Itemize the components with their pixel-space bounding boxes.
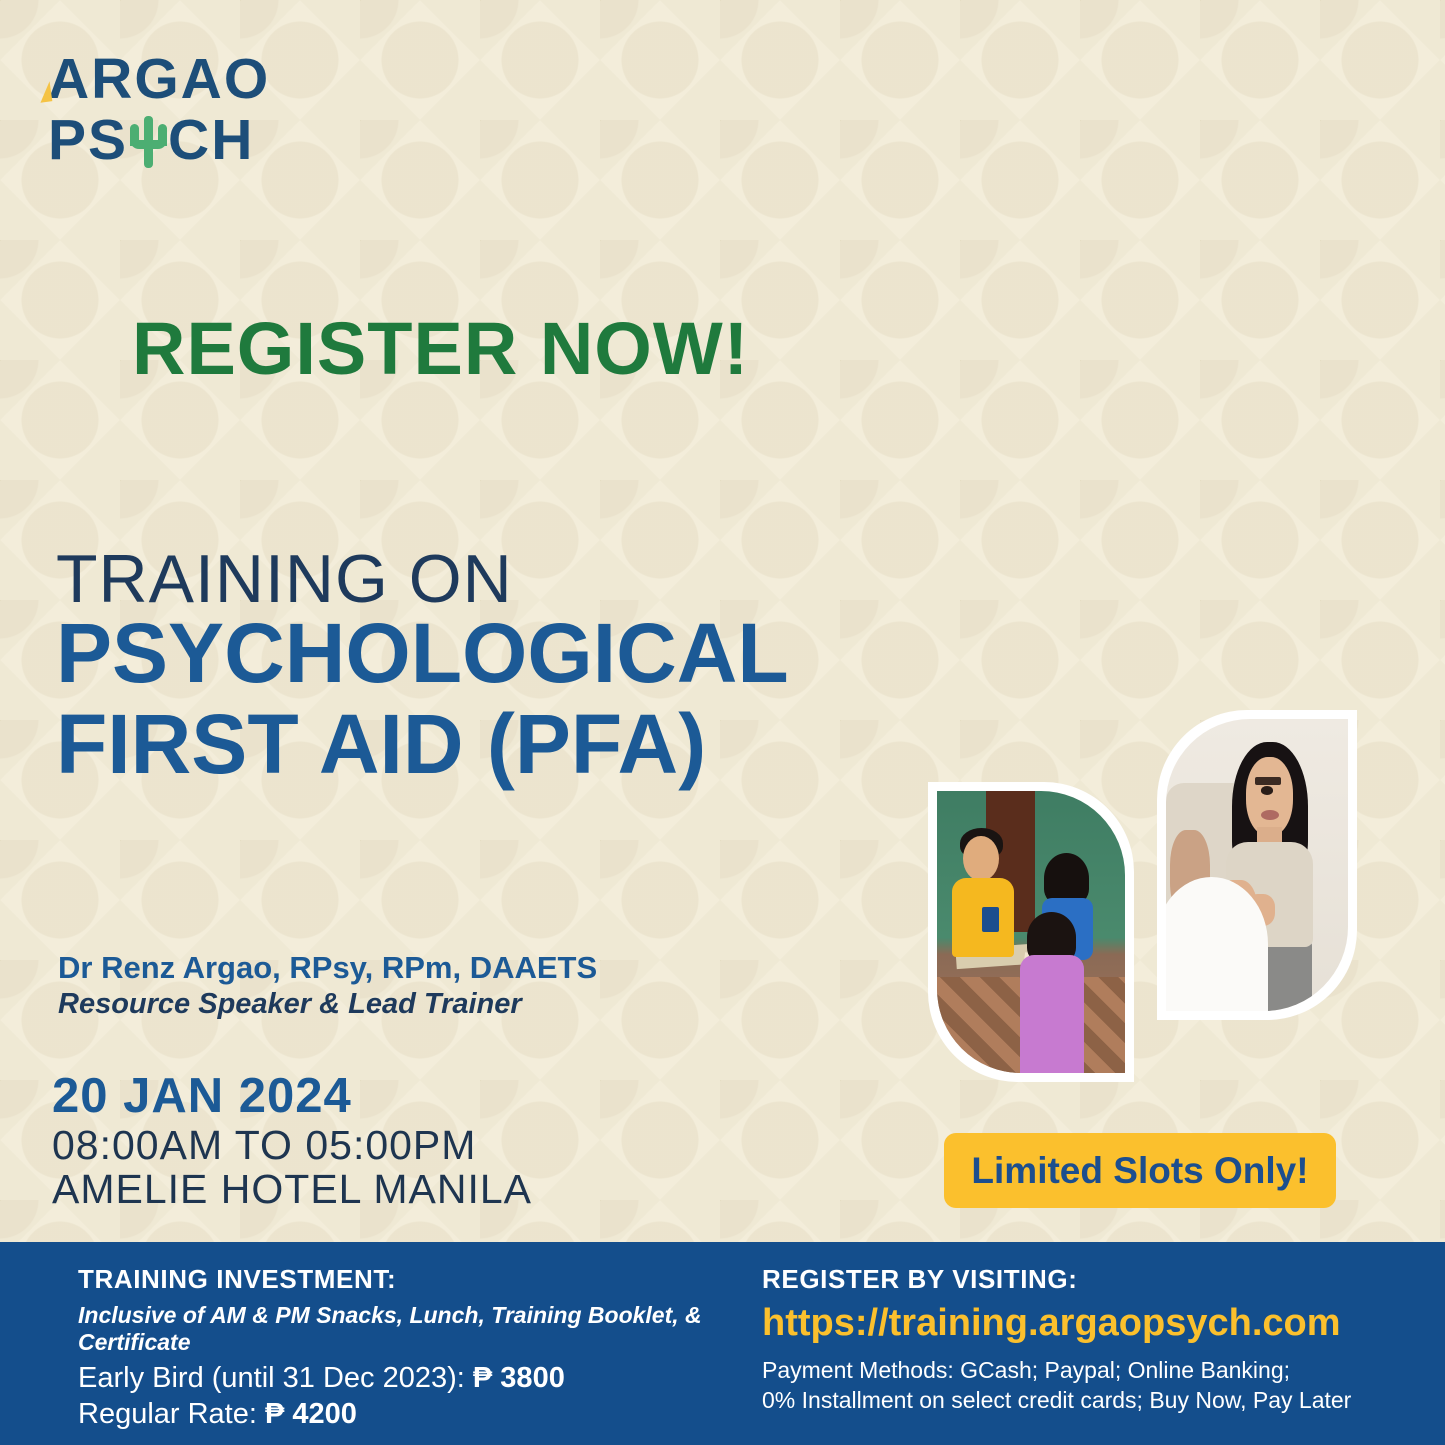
footer-register-block: REGISTER BY VISITING: https://training.a… — [762, 1264, 1402, 1416]
logo-psych-suffix: CH — [168, 108, 254, 172]
logo-argao-label: ARGAO — [48, 47, 270, 111]
poster-canvas: ARGAO PSCH PFA ACTION PRINCIPLES Look Li… — [0, 0, 1445, 1445]
regular-rate-row: Regular Rate: ₱ 4200 — [78, 1398, 778, 1431]
counseling-session-photo — [928, 782, 1134, 1082]
registration-url-link[interactable]: https://training.argaopsych.com — [762, 1302, 1402, 1345]
principle-look: Look — [960, 258, 1342, 398]
interview-session-photo — [1157, 710, 1357, 1020]
triangle-accent-icon — [38, 81, 53, 102]
panel-kicker-line1: PFA ACTION — [922, 104, 1332, 152]
early-bird-label: Early Bird (until 31 Dec 2023): — [78, 1362, 473, 1394]
page-title: PSYCHOLOGICAL FIRST AID (PFA) — [56, 608, 789, 789]
panel-kicker-line2: PRINCIPLES — [922, 152, 1332, 200]
panel-principles-list: Look Listen Link — [960, 258, 1342, 679]
event-venue: AMELIE HOTEL MANILA — [52, 1166, 532, 1213]
limited-slots-badge: Limited Slots Only! — [944, 1133, 1336, 1208]
regular-rate-price: ₱ 4200 — [265, 1398, 357, 1430]
principle-link: Link — [960, 539, 1342, 679]
register-heading: REGISTER BY VISITING: — [762, 1264, 1402, 1295]
title-line-2: FIRST AID (PFA) — [56, 699, 789, 790]
panel-kicker: PFA ACTION PRINCIPLES — [922, 104, 1332, 201]
brand-logo[interactable]: ARGAO PSCH — [48, 52, 270, 168]
investment-heading: TRAINING INVESTMENT: — [78, 1264, 778, 1295]
speaker-name: Dr Renz Argao, RPsy, RPm, DAAETS — [58, 950, 597, 986]
payment-methods: Payment Methods: GCash; Paypal; Online B… — [762, 1355, 1402, 1416]
early-bird-row: Early Bird (until 31 Dec 2023): ₱ 3800 — [78, 1362, 778, 1395]
logo-psych-prefix: PS — [48, 108, 128, 172]
title-line-1: PSYCHOLOGICAL — [56, 608, 789, 699]
principle-listen: Listen — [960, 398, 1342, 538]
speaker-role: Resource Speaker & Lead Trainer — [58, 988, 522, 1021]
investment-inclusive-note: Inclusive of AM & PM Snacks, Lunch, Trai… — [78, 1302, 778, 1356]
payment-methods-line1: Payment Methods: GCash; Paypal; Online B… — [762, 1355, 1402, 1385]
logo-text-argao: ARGAO — [48, 52, 270, 107]
register-now-headline: REGISTER NOW! — [132, 306, 749, 391]
footer-bar: TRAINING INVESTMENT: Inclusive of AM & P… — [0, 1242, 1445, 1445]
payment-methods-line2: 0% Installment on select credit cards; B… — [762, 1385, 1402, 1415]
logo-text-psych: PSCH — [48, 113, 270, 168]
regular-rate-label: Regular Rate: — [78, 1398, 265, 1430]
event-time: 08:00AM TO 05:00PM — [52, 1122, 476, 1169]
early-bird-price: ₱ 3800 — [473, 1362, 565, 1394]
cactus-icon — [128, 116, 168, 168]
footer-investment-block: TRAINING INVESTMENT: Inclusive of AM & P… — [78, 1264, 778, 1434]
event-date: 20 JAN 2024 — [52, 1068, 352, 1124]
